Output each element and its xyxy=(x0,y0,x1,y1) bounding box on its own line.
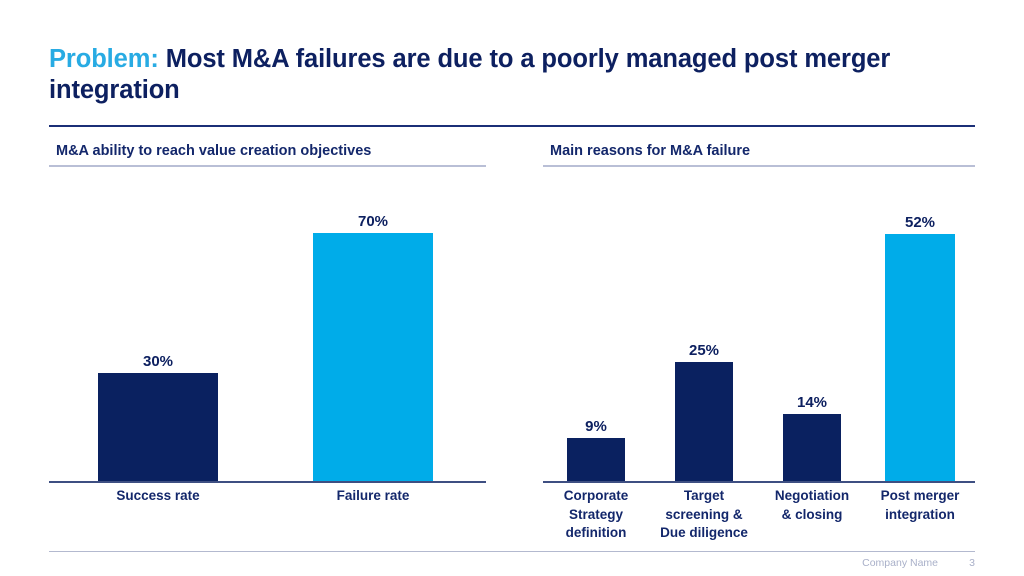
footer-divider xyxy=(49,551,975,552)
bar-group-negotiation-closing[interactable]: 14% xyxy=(783,394,841,481)
title-rest: Most M&A failures are due to a poorly ma… xyxy=(49,45,890,104)
bar-label-success-rate: 30% xyxy=(143,353,173,370)
bar-negotiation-closing[interactable] xyxy=(783,414,841,481)
category-label-line: & closing xyxy=(758,506,866,525)
bar-label-negotiation-closing: 14% xyxy=(797,394,827,411)
bar-group-failure-rate[interactable]: 70% xyxy=(313,213,433,481)
plot-area-right: 9% 25% 14% 52% xyxy=(543,196,975,483)
category-label-failure-rate: Failure rate xyxy=(313,487,433,506)
category-label-success-rate: Success rate xyxy=(98,487,218,506)
footer-company-name: Company Name xyxy=(862,557,938,569)
chart-value-creation: 30% 70% Success rate Failure rate xyxy=(49,196,486,484)
bar-label-corporate-strategy: 9% xyxy=(585,418,607,435)
title-accent: Problem: xyxy=(49,45,159,73)
page-title: Problem: Most M&A failures are due to a … xyxy=(49,44,949,106)
bar-group-post-merger-integration[interactable]: 52% xyxy=(885,214,955,481)
category-label-line: Negotiation xyxy=(758,487,866,506)
category-label-line: Strategy xyxy=(549,506,643,525)
bar-group-corporate-strategy[interactable]: 9% xyxy=(567,418,625,481)
bar-label-target-screening: 25% xyxy=(689,342,719,359)
bar-group-target-screening[interactable]: 25% xyxy=(675,342,733,481)
category-label-line: Target xyxy=(647,487,761,506)
bar-group-success-rate[interactable]: 30% xyxy=(98,353,218,481)
panel-divider-left xyxy=(49,165,486,167)
bar-failure-rate[interactable] xyxy=(313,233,433,481)
title-divider xyxy=(49,125,975,127)
category-label-negotiation-closing: Negotiation & closing xyxy=(758,487,866,524)
bar-target-screening[interactable] xyxy=(675,362,733,481)
slide: Problem: Most M&A failures are due to a … xyxy=(0,0,1024,576)
category-label-line: definition xyxy=(549,524,643,543)
panel-header-left: M&A ability to reach value creation obje… xyxy=(49,143,486,167)
panel-divider-right xyxy=(543,165,975,167)
plot-area-left: 30% 70% xyxy=(49,196,486,483)
bar-label-post-merger-integration: 52% xyxy=(905,214,935,231)
category-label-line: Due diligence xyxy=(647,524,761,543)
category-label-corporate-strategy: Corporate Strategy definition xyxy=(549,487,643,543)
footer: Company Name 3 xyxy=(862,557,975,569)
bar-success-rate[interactable] xyxy=(98,373,218,481)
panel-header-right: Main reasons for M&A failure xyxy=(543,143,975,167)
category-label-line: Corporate xyxy=(549,487,643,506)
x-axis-left xyxy=(49,481,486,483)
category-label-post-merger-integration: Post merger integration xyxy=(866,487,974,524)
bar-post-merger-integration[interactable] xyxy=(885,234,955,481)
footer-page-number: 3 xyxy=(965,557,975,569)
bar-label-failure-rate: 70% xyxy=(358,213,388,230)
category-label-line: integration xyxy=(866,506,974,525)
x-axis-right xyxy=(543,481,975,483)
category-label-line: screening & xyxy=(647,506,761,525)
category-labels-right: Corporate Strategy definition Target scr… xyxy=(543,487,975,547)
category-labels-left: Success rate Failure rate xyxy=(49,487,486,547)
category-label-target-screening: Target screening & Due diligence xyxy=(647,487,761,543)
chart-failure-reasons: 9% 25% 14% 52% Corporate Strategy defi xyxy=(543,196,975,484)
panel-title-value-creation: M&A ability to reach value creation obje… xyxy=(49,143,486,165)
bar-corporate-strategy[interactable] xyxy=(567,438,625,481)
category-label-line: Post merger xyxy=(866,487,974,506)
panel-title-failure-reasons: Main reasons for M&A failure xyxy=(543,143,975,165)
